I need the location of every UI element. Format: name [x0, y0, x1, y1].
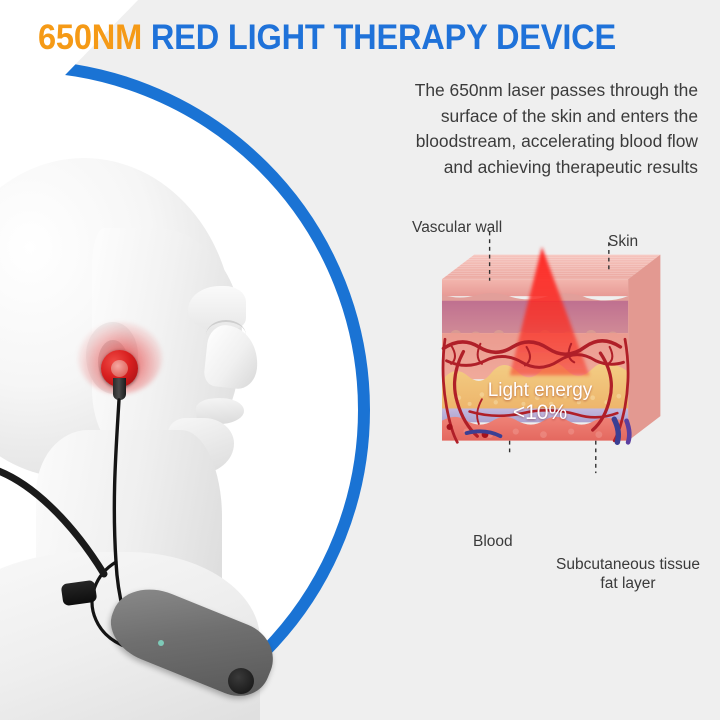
description-line-1: The 650nm laser passes through the [326, 78, 698, 104]
light-energy-label: Light energy [488, 380, 593, 401]
skin-side-face [628, 255, 660, 441]
description-line-4: and achieving therapeutic results [326, 155, 698, 181]
light-energy-value: <10% [513, 401, 567, 424]
status-led-indicator [158, 640, 164, 646]
earbud-stem [113, 378, 126, 400]
infographic-canvas: 650NM RED LIGHT THERAPY DEVICE The 650nm… [0, 0, 720, 720]
cable-clip [61, 580, 98, 607]
subcutaneous-line-2: fat layer [600, 575, 655, 592]
skin-block-illustration [400, 210, 710, 510]
neckband-button [228, 668, 254, 694]
description-paragraph: The 650nm laser passes through the surfa… [326, 78, 698, 180]
subcutaneous-line-1: Subcutaneous tissue [556, 556, 700, 573]
product-photo [0, 150, 330, 720]
description-line-2: surface of the skin and enters the [326, 104, 698, 130]
title-main: RED LIGHT THERAPY DEVICE [151, 18, 616, 57]
skin-cross-section-diagram: Vascular wall Skin Blood Subcutaneous ti… [400, 210, 710, 600]
mannequin-nose [203, 323, 261, 390]
title-wavelength: 650NM [38, 18, 142, 57]
callout-label-subcutaneous: Subcutaneous tissue fat layer [528, 555, 720, 593]
page-title: 650NM RED LIGHT THERAPY DEVICE [38, 18, 616, 58]
description-line-3: bloodstream, accelerating blood flow [326, 129, 698, 155]
callout-label-blood: Blood [473, 532, 513, 551]
earbud-emitter [111, 360, 128, 377]
light-energy-caption: Light energy <10% [470, 380, 610, 425]
